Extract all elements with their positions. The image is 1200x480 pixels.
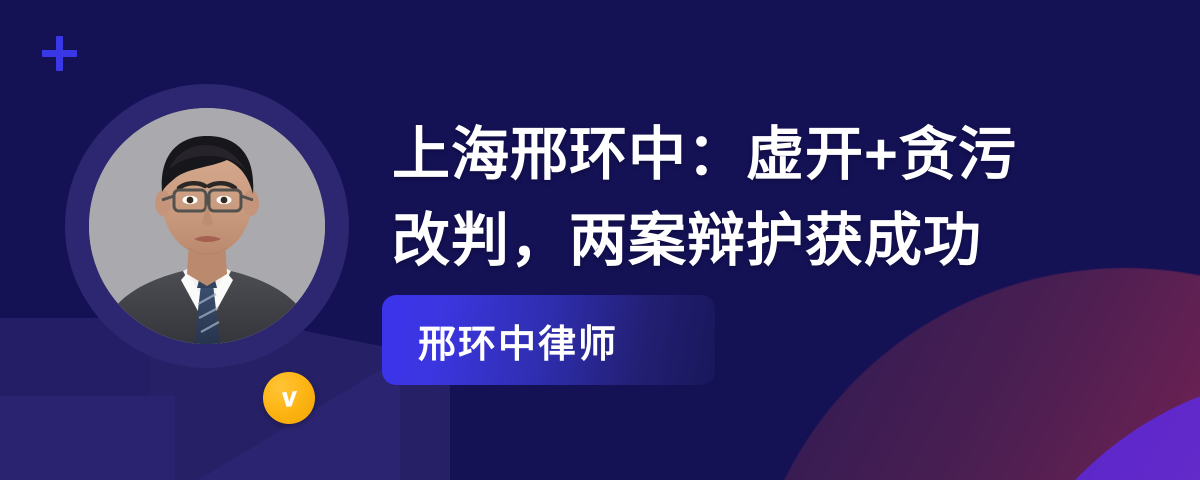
headline-line-1: 上海邢环中：虚开+贪污 <box>392 112 1182 198</box>
verified-badge-icon <box>263 372 315 424</box>
page-title: 上海邢环中：虚开+贪污 改判，两案辩护获成功 <box>392 112 1182 284</box>
banner-content: 上海邢环中：虚开+贪污 改判，两案辩护获成功 邢环中律师 <box>392 112 1182 284</box>
promo-banner: 上海邢环中：虚开+贪污 改判，两案辩护获成功 邢环中律师 <box>0 0 1200 480</box>
avatar <box>65 84 349 368</box>
author-name-label: 邢环中律师 <box>382 313 618 368</box>
decor-polygon-bottom <box>0 396 175 480</box>
author-name-badge[interactable]: 邢环中律师 <box>382 295 715 385</box>
headline-line-2: 改判，两案辩护获成功 <box>392 198 1182 284</box>
plus-icon <box>42 36 77 71</box>
avatar-photo <box>89 108 325 344</box>
